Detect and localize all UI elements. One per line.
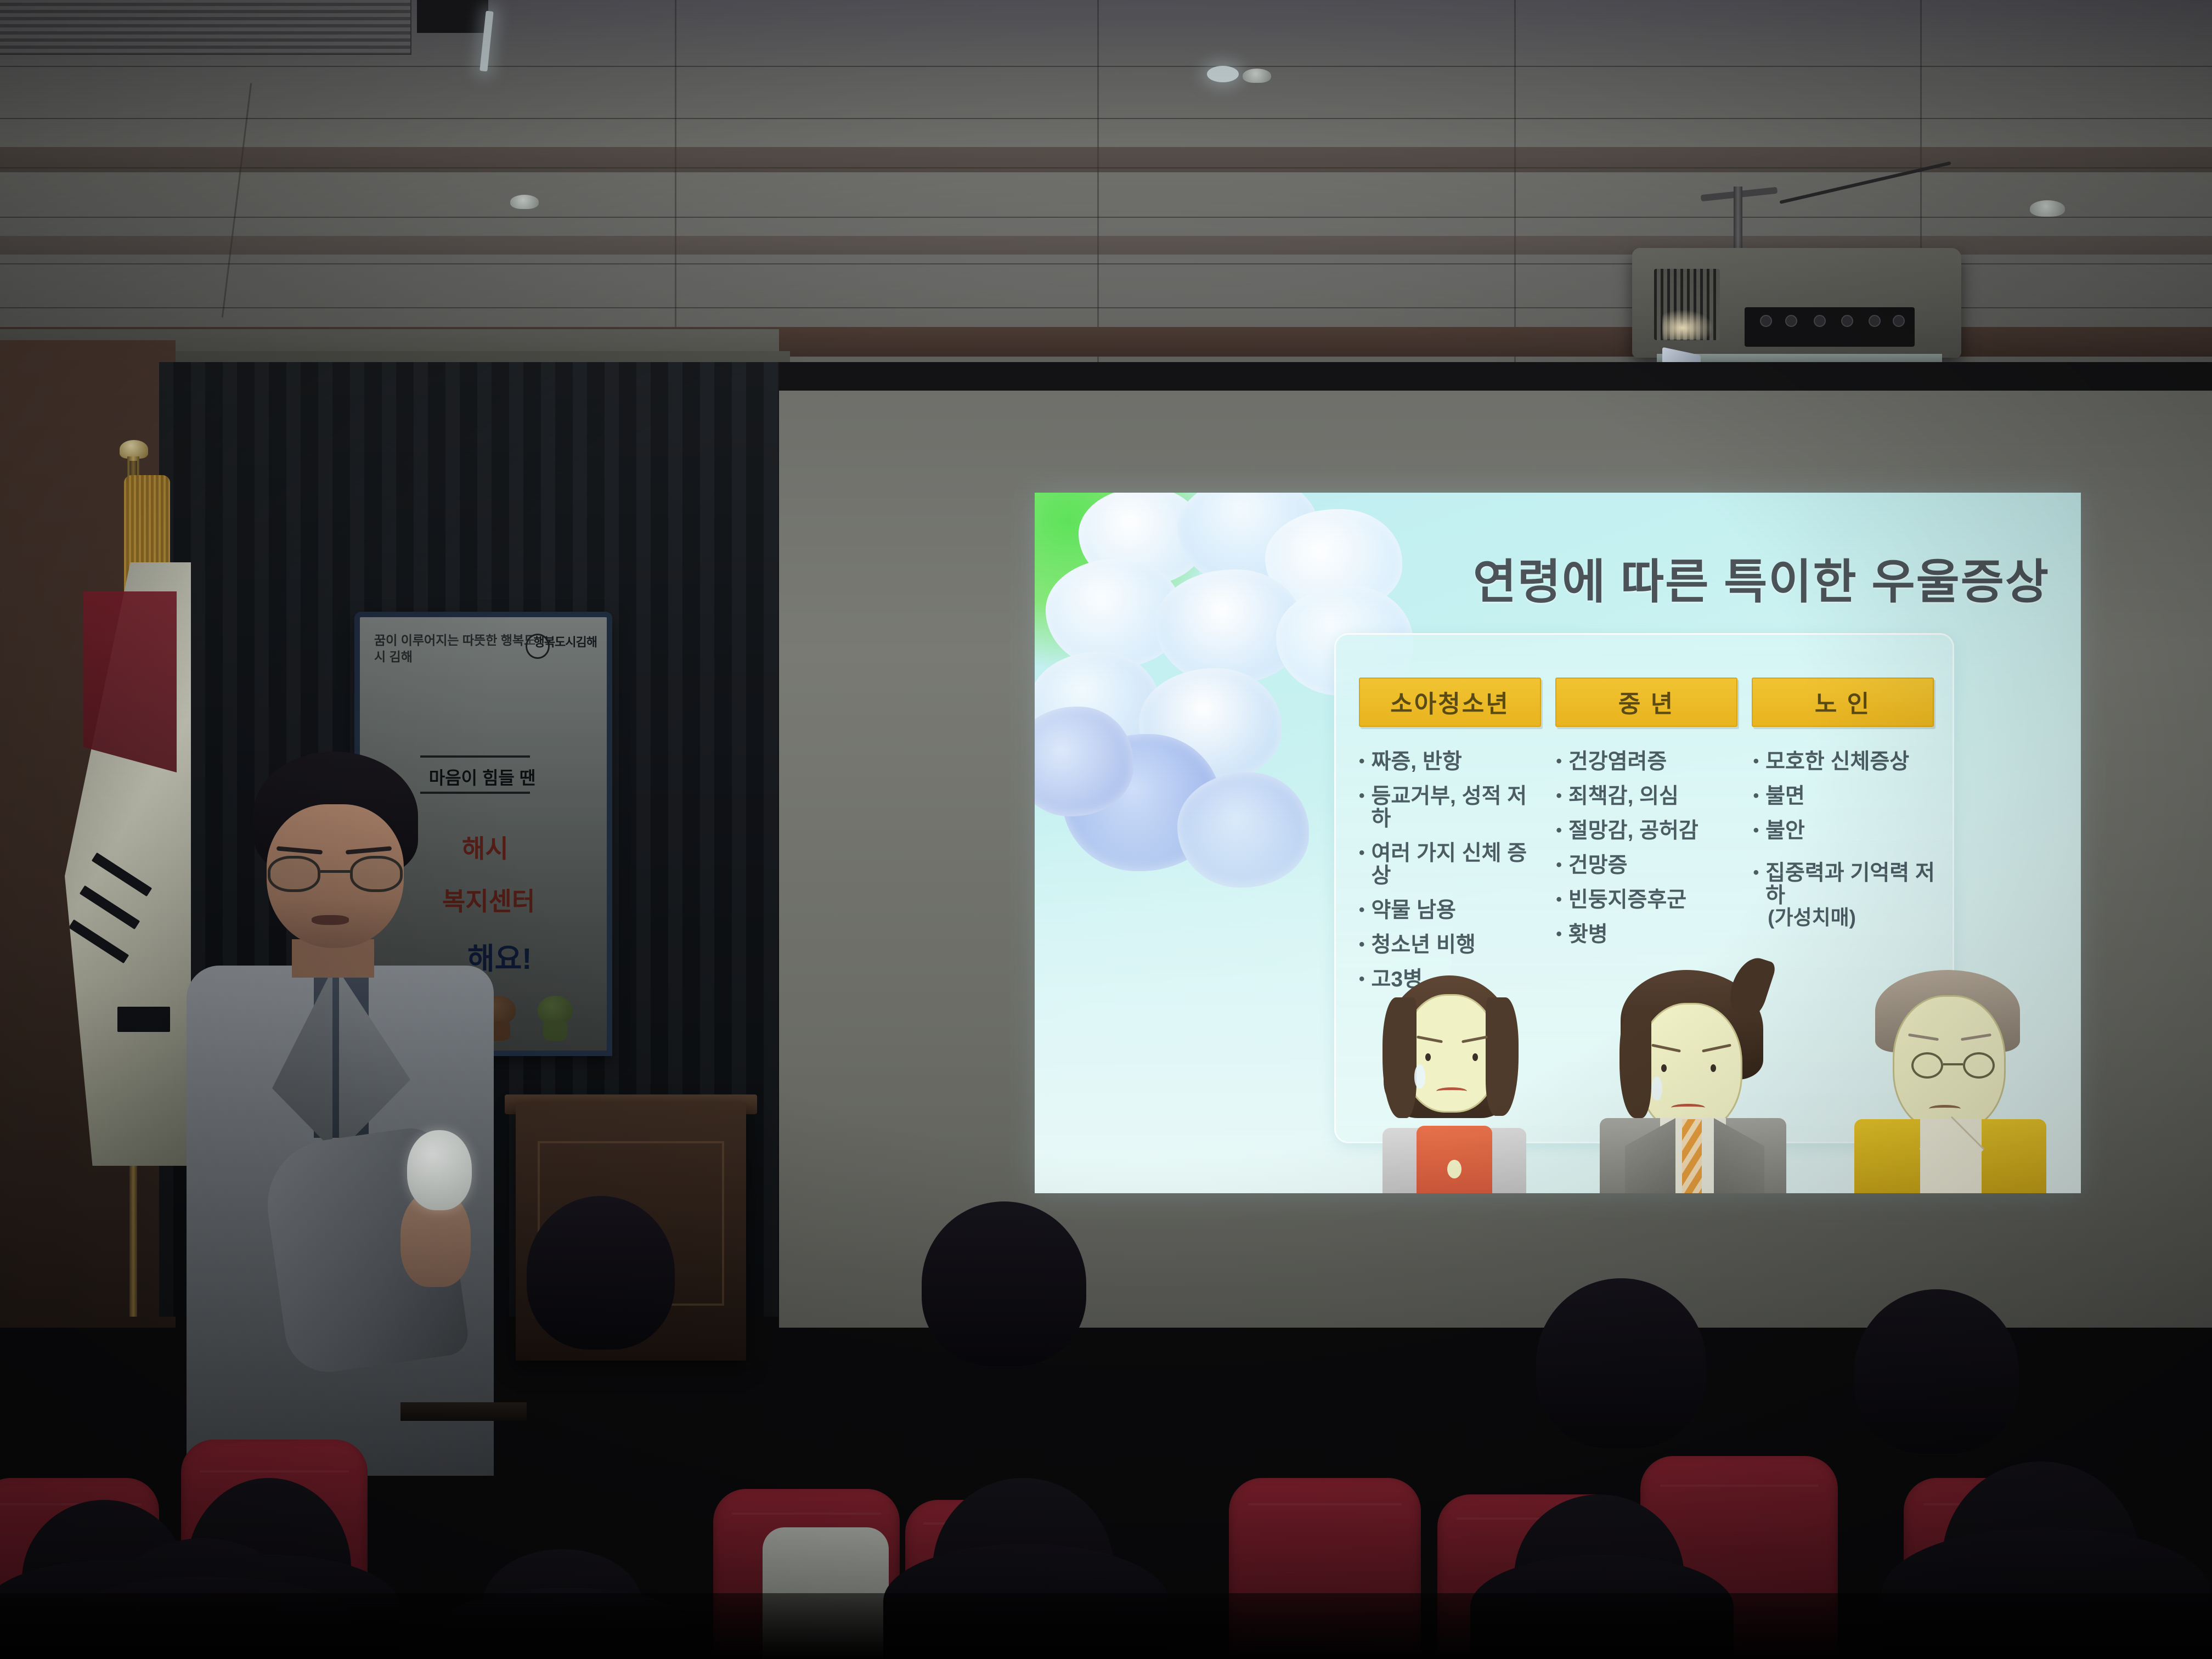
sad-elderly-man-figure — [1847, 970, 2055, 1193]
bullet-dot-icon: • — [1556, 786, 1562, 806]
flagpole-finial — [120, 440, 148, 459]
audience-head — [1536, 1278, 1706, 1448]
hair-side-right — [1486, 997, 1519, 1116]
list-item: •약물 남용 — [1359, 900, 1546, 922]
vest-cutout — [1447, 1160, 1462, 1178]
bullet-dot-icon: • — [1359, 843, 1365, 864]
bullet-dot-icon: • — [1556, 889, 1562, 910]
frown-mouth — [1929, 1105, 1961, 1109]
list-item: •등교거부, 성적 저하 — [1359, 786, 1546, 831]
necktie — [1682, 1119, 1702, 1193]
bullet-dot-icon: • — [1753, 862, 1759, 883]
column-child-adolescent: •짜증, 반항 •등교거부, 성적 저하 •여러 가지 신체 증상 •약물 남용… — [1359, 751, 1546, 1003]
bullet-dot-icon: • — [1556, 751, 1562, 772]
bullet-dot-icon: • — [1359, 751, 1365, 772]
bullet-dot-icon: • — [1556, 820, 1562, 841]
auditorium-photo: 연령에 따른 특이한 우울증상 소아청소년 중 년 노 인 •짜증, 반항 •등… — [0, 0, 2212, 1659]
column-body-row: •짜증, 반항 •등교거부, 성적 저하 •여러 가지 신체 증상 •약물 남용… — [1359, 751, 1940, 1003]
projector-port-panel — [1745, 307, 1915, 347]
red-curtain-behind-flag — [83, 591, 177, 772]
list-item: •불면 — [1753, 786, 1940, 808]
ceiling-downlight-a — [1207, 66, 1239, 82]
list-item: • 집중력과 기억력 저하 (가성치매) — [1753, 862, 1940, 929]
audience-head — [1854, 1289, 2019, 1454]
tear-drop — [1414, 1064, 1425, 1088]
eye-left — [1425, 1053, 1431, 1061]
handheld-microphone — [407, 1130, 472, 1210]
bullet-dot-icon: • — [1359, 934, 1365, 955]
ceiling-vent — [0, 0, 411, 55]
frown-mouth — [1436, 1087, 1467, 1091]
eye-left — [1661, 1064, 1667, 1072]
list-item: •빈둥지증후군 — [1556, 889, 1743, 912]
list-item: •청소년 비행 — [1359, 934, 1546, 957]
presenter-mouth — [312, 915, 349, 925]
screen-top-masking — [779, 362, 2212, 391]
list-item: •모호한 신체증상 — [1753, 751, 1940, 774]
projector-mount-pole — [1734, 187, 1742, 252]
ceiling-dome-light-a — [510, 195, 539, 209]
list-item: •홧병 — [1556, 924, 1743, 946]
bullet-dot-icon: • — [1753, 751, 1759, 772]
bullet-dot-icon: • — [1753, 820, 1759, 841]
bullet-dot-icon: • — [1556, 924, 1562, 945]
column-elderly: •모호한 신체증상 •불면 •불안 • 집중력과 기억력 저하 (가성치매) — [1753, 751, 1940, 1003]
glasses-icon — [1911, 1052, 1995, 1079]
ceiling-duct — [417, 0, 488, 33]
foreground-shadow — [0, 1593, 2212, 1659]
list-item: •절망감, 공허감 — [1556, 820, 1743, 843]
column-header-child-adolescent: 소아청소년 — [1359, 678, 1541, 727]
ceiling-dome-light-b — [1243, 69, 1271, 83]
bullet-dot-icon: • — [1556, 855, 1562, 876]
slide-title: 연령에 따른 특이한 우울증상 — [1430, 543, 2050, 612]
column-header-middle-age: 중 년 — [1555, 678, 1737, 727]
column-header-row: 소아청소년 중 년 노 인 — [1359, 678, 1934, 727]
list-item: •불안 — [1753, 820, 1940, 843]
tear-drop — [1651, 1076, 1662, 1101]
audience-head — [922, 1201, 1086, 1366]
audience-head — [527, 1196, 675, 1350]
bullet-dot-icon: • — [1359, 900, 1365, 921]
projected-slide: 연령에 따른 특이한 우울증상 소아청소년 중 년 노 인 •짜증, 반항 •등… — [1035, 493, 2081, 1193]
projector-lamp-glow — [1662, 310, 1713, 340]
bullet-dot-icon: • — [1753, 786, 1759, 806]
list-item: •죄책감, 의심 — [1556, 786, 1743, 808]
eye-right — [1472, 1053, 1478, 1061]
glasses-icon — [268, 856, 403, 892]
column-middle-age: •건강염려증 •죄책감, 의심 •절망감, 공허감 •건망증 •빈둥지증후군 •… — [1556, 751, 1743, 1003]
sad-middle-aged-man-figure — [1594, 970, 1792, 1193]
eye-right — [1711, 1064, 1716, 1072]
slide-illustration-figures — [1364, 970, 2077, 1193]
column-header-elderly: 노 인 — [1752, 678, 1934, 727]
hair-side-left — [1383, 997, 1417, 1118]
list-item: •여러 가지 신체 증상 — [1359, 843, 1546, 888]
list-item-subtext: (가성치매) — [1765, 907, 1940, 929]
list-item: •짜증, 반항 — [1359, 751, 1546, 774]
head — [1403, 994, 1498, 1113]
head — [1638, 1003, 1742, 1132]
bullet-dot-icon: • — [1359, 786, 1365, 806]
sad-teen-girl-figure — [1364, 970, 1545, 1193]
list-item: •건망증 — [1556, 855, 1743, 877]
list-item: •건강염려증 — [1556, 751, 1743, 774]
frown-mouth — [1671, 1104, 1705, 1108]
smoke-detector-icon — [2030, 200, 2065, 217]
hair-side-left — [1620, 1008, 1651, 1118]
